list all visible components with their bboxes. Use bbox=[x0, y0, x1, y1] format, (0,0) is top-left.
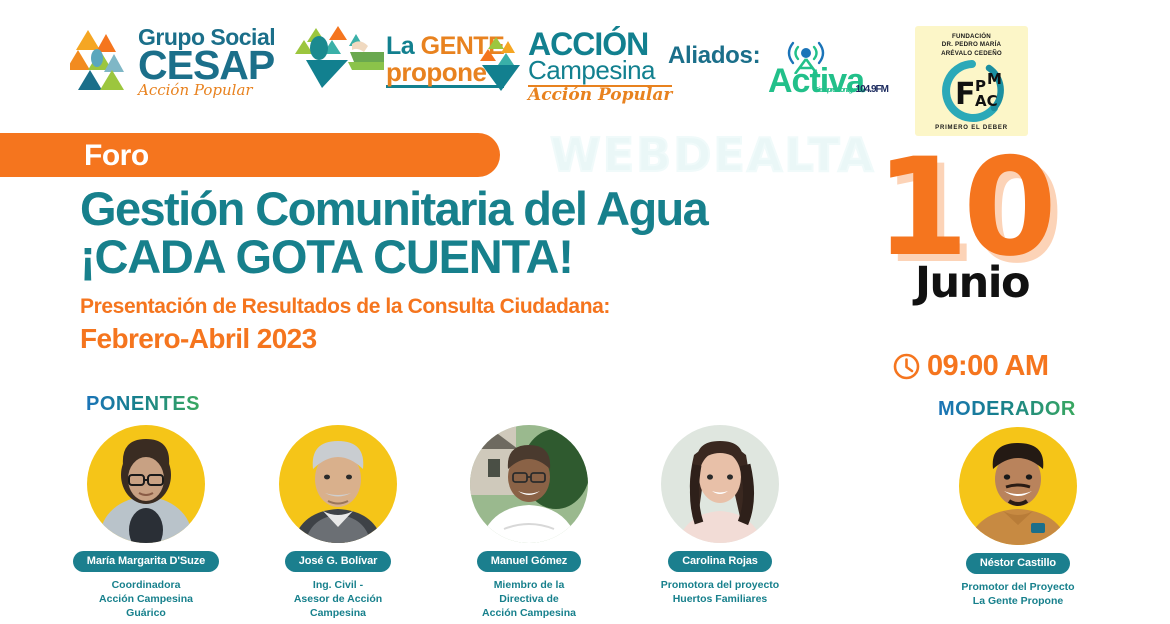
person-role: Promotor del Proyecto La Gente Propone bbox=[923, 580, 1113, 608]
cesap-triangles-icon bbox=[70, 28, 132, 96]
activa-wordmark: Activa Siempre Contigo104.9FM bbox=[768, 66, 888, 97]
avatar bbox=[661, 425, 779, 543]
person-role: Ing. Civil - Asesor de Acción Campesina bbox=[243, 578, 433, 621]
person-name-pill: José G. Bolívar bbox=[285, 551, 392, 572]
clock-icon bbox=[893, 353, 920, 380]
page-title-line1: Gestión Comunitaria del Agua bbox=[80, 185, 707, 233]
ponentes-heading: PONENTES bbox=[86, 393, 200, 416]
person-role: Promotora del proyecto Huertos Familiare… bbox=[625, 578, 815, 606]
subtitle-consulta: Presentación de Resultados de la Consult… bbox=[80, 295, 707, 319]
event-time-row: 09:00 AM bbox=[893, 350, 1048, 383]
foro-banner: Foro bbox=[0, 133, 500, 177]
aliados-label: Aliados: bbox=[668, 42, 760, 70]
title-block: Gestión Comunitaria del Agua ¡CADA GOTA … bbox=[80, 185, 707, 355]
avatar bbox=[279, 425, 397, 543]
ponente-card: Manuel Gómez Miembro de la Directiva de … bbox=[434, 425, 624, 621]
subtitle-period: Febrero-Abril 2023 bbox=[80, 323, 707, 355]
avatar bbox=[87, 425, 205, 543]
person-role: Miembro de la Directiva de Acción Campes… bbox=[434, 578, 624, 621]
avatar bbox=[959, 427, 1077, 545]
cesap-line2: CESAP bbox=[138, 45, 275, 86]
fpmac-top-text: FUNDACIÓN DR. PEDRO MARÍA ARÉVALO CEDEÑO bbox=[915, 26, 1028, 58]
ponente-card: Carolina Rojas Promotora del proyecto Hu… bbox=[625, 425, 815, 606]
person-name-pill: Manuel Gómez bbox=[477, 551, 581, 572]
campesina-line2: Campesina bbox=[528, 57, 672, 83]
fpmac-letter-m: M bbox=[987, 70, 1002, 88]
logo-accion-campesina: ACCIÓN Campesina Acción Popular bbox=[478, 28, 672, 104]
logo-cesap: Grupo Social CESAP Acción Popular bbox=[70, 26, 275, 98]
logo-activa-radio: Activa Siempre Contigo104.9FM bbox=[768, 40, 888, 97]
avatar bbox=[470, 425, 588, 543]
foro-label: Foro bbox=[84, 139, 149, 173]
moderador-heading: MODERADOR bbox=[938, 398, 1076, 421]
person-name-pill: Néstor Castillo bbox=[966, 553, 1070, 574]
fpmac-letter-ac: AC bbox=[975, 92, 998, 110]
event-time: 09:00 AM bbox=[927, 350, 1048, 383]
campesina-line3: Acción Popular bbox=[528, 85, 672, 104]
logo-row: Grupo Social CESAP Acción Popular bbox=[0, 0, 1170, 140]
person-name-pill: María Margarita D'Suze bbox=[73, 551, 219, 572]
logo-la-gente-propone: La GENTE propone bbox=[292, 26, 504, 96]
ponente-card: María Margarita D'Suze Coordinadora Acci… bbox=[51, 425, 241, 621]
flyer-poster: WEBDEALTA Grupo Social CESAP Ac bbox=[0, 0, 1170, 624]
activa-frequency: Siempre Contigo104.9FM bbox=[815, 85, 888, 94]
logo-fpmac: FUNDACIÓN DR. PEDRO MARÍA ARÉVALO CEDEÑO… bbox=[915, 26, 1028, 136]
person-name-pill: Carolina Rojas bbox=[668, 551, 772, 572]
ponente-card: José G. Bolívar Ing. Civil - Asesor de A… bbox=[243, 425, 433, 621]
campesina-triangles-icon bbox=[478, 37, 524, 95]
event-date-block: 10 Junio 09:00 AM bbox=[875, 150, 1105, 266]
event-day: 10 bbox=[875, 150, 1105, 266]
person-role: Coordinadora Acción Campesina Guárico bbox=[51, 578, 241, 621]
moderador-card: Néstor Castillo Promotor del Proyecto La… bbox=[923, 427, 1113, 608]
page-title-line2: ¡CADA GOTA CUENTA! bbox=[80, 233, 707, 281]
fpmac-brush-ring-icon: F P M AC bbox=[935, 60, 1009, 122]
event-month: Junio bbox=[915, 258, 1029, 308]
gente-people-icon bbox=[292, 26, 384, 96]
fpmac-letter-f: F bbox=[955, 77, 976, 112]
